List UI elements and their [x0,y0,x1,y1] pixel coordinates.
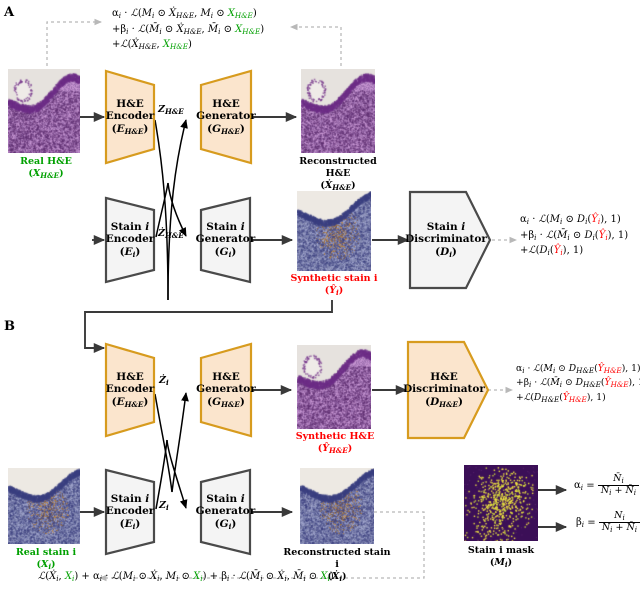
equals-sign: = [587,517,599,528]
beta-definition: βi = Ni Ni + N̄i [576,511,640,535]
block-label: Stain iEncoder(Ei) [104,221,157,259]
loss-line-1: αi · ℒ(Mi ⊙ Di(Ŷi), 1) [520,212,628,228]
caption-line-1: Real stain i [0,547,92,559]
panel-a-top-loss: αi · ℒ(Mi ⊙ ẊH&E, Mi ⊙ XH&E) +βi · ℒ(M̄… [112,6,264,53]
panel-b-bottom-loss: ℒ(Ẋi, Xi) + αi · ℒ(Mi ⊙ Ẋi, Mi ⊙ Xi) +… [38,569,334,585]
panel-a-letter: A [4,6,14,19]
caption-stain-mask: Stain i mask (Mi) [452,545,550,569]
caption-reconstructed-he: Reconstructed H&E (ẊH&E) [286,156,390,192]
block-label: H&E Generator (GH&E) [194,371,258,409]
panel-b-letter: B [4,320,15,333]
loss-line-2: +βi · ℒ(M̄i ⊙ DH&E(ŶH&E), 1) [516,376,640,390]
panel-b-right-loss: αi · ℒ(Mi ⊙ DH&E(ŶH&E), 1) +βi · ℒ(M̄i ⊙… [516,362,640,405]
beta-fraction: Ni Ni + N̄i [599,511,640,535]
loss-line-2: +βi · ℒ(M̄i ⊙ Di(Ŷi), 1) [520,228,628,244]
caption-synthetic-stain: Synthetic stain i (Ŷi) [284,273,384,297]
latent-label-z-stain-a: ŻH&E [158,228,184,240]
alpha-definition: αi = N̄i Ni + N̄i [574,474,639,498]
beta-denominator: Ni + N̄i [599,523,640,534]
block-label: Stain iEncoder(Ei) [104,493,157,531]
loss-line-1: αi · ℒ(Mi ⊙ DH&E(ŶH&E), 1) [516,362,640,376]
caption-line-2: (Ŷi) [284,285,384,297]
loss-line-1: αi · ℒ(Mi ⊙ ẊH&E, Mi ⊙ XH&E) [112,6,264,22]
caption-line-2: (XH&E) [0,168,92,180]
panel-a-right-loss: αi · ℒ(Mi ⊙ Di(Ŷi), 1) +βi · ℒ(M̄i ⊙ Di(… [520,212,628,259]
latent-label-z-he-b: Żi [159,375,169,387]
image-reconstructed-stain [300,468,374,544]
alpha-symbol: αi [574,480,583,491]
caption-line-1: Real H&E [0,156,92,168]
block-label: H&E Discriminator (DH&E) [401,371,487,409]
block-stain-encoder-a: Stain iEncoder(Ei) [104,196,156,284]
block-he-generator-b: H&E Generator (GH&E) [199,342,253,438]
caption-line-1: Stain i mask [452,545,550,557]
image-real-he [8,69,80,153]
block-stain-generator-a: Stain iGenerator(Gi) [199,196,252,284]
block-label: Stain iDiscriminator(Di) [403,221,489,259]
latent-label-z-he: ZH&E [158,104,184,116]
block-stain-discriminator-a: Stain iDiscriminator(Di) [408,190,492,290]
caption-line-2: (ẊH&E) [286,180,390,192]
latent-label-z-stain-b: Zi [159,500,169,512]
figure-root: A αi · ℒ(Mi ⊙ ẊH&E, Mi ⊙ XH&E) +βi · ℒ(… [0,0,640,603]
caption-line-1: Synthetic H&E [285,431,385,443]
block-label: H&E Encoder (EH&E) [104,371,157,409]
loss-line-3: +ℒ(Di(Ŷi), 1) [520,243,628,259]
image-stain-mask [464,465,538,541]
block-label: H&E Generator (GH&E) [194,98,258,136]
loss-line-3: +ℒ(DH&E(ŶH&E), 1) [516,391,640,405]
block-stain-encoder-b: Stain iEncoder(Ei) [104,468,156,556]
caption-line-1: Reconstructed stain i [283,547,391,571]
caption-line-1: Reconstructed H&E [286,156,390,180]
caption-line-2: (ŶH&E) [285,443,385,455]
beta-symbol: βi [576,517,584,528]
block-label: Stain iGenerator(Gi) [194,221,258,259]
image-reconstructed-he [301,69,375,153]
caption-line-2: (Mi) [452,557,550,569]
equals-sign: = [586,480,598,491]
image-real-stain [8,468,80,544]
caption-real-he: Real H&E (XH&E) [0,156,92,180]
block-stain-generator-b: Stain iGenerator(Gi) [199,468,252,556]
block-he-discriminator-b: H&E Discriminator (DH&E) [406,340,490,440]
image-synthetic-stain [297,191,371,271]
block-label: Stain iGenerator(Gi) [194,493,258,531]
alpha-denominator: Ni + N̄i [598,486,639,497]
caption-real-stain: Real stain i (Xi) [0,547,92,571]
loss-line-2: +βi · ℒ(M̄i ⊙ ẊH&E, M̄i ⊙ XH&E) [112,22,264,38]
caption-line-1: Synthetic stain i [284,273,384,285]
block-he-encoder-b: H&E Encoder (EH&E) [104,342,156,438]
loss-line-3: +ℒ(ẊH&E, XH&E) [112,37,264,53]
image-synthetic-he [297,345,371,429]
caption-synthetic-he: Synthetic H&E (ŶH&E) [285,431,385,455]
block-he-generator-a: H&E Generator (GH&E) [199,69,253,165]
alpha-fraction: N̄i Ni + N̄i [598,474,639,498]
block-label: H&E Encoder (EH&E) [104,98,157,136]
block-he-encoder-a: H&E Encoder (EH&E) [104,69,156,165]
